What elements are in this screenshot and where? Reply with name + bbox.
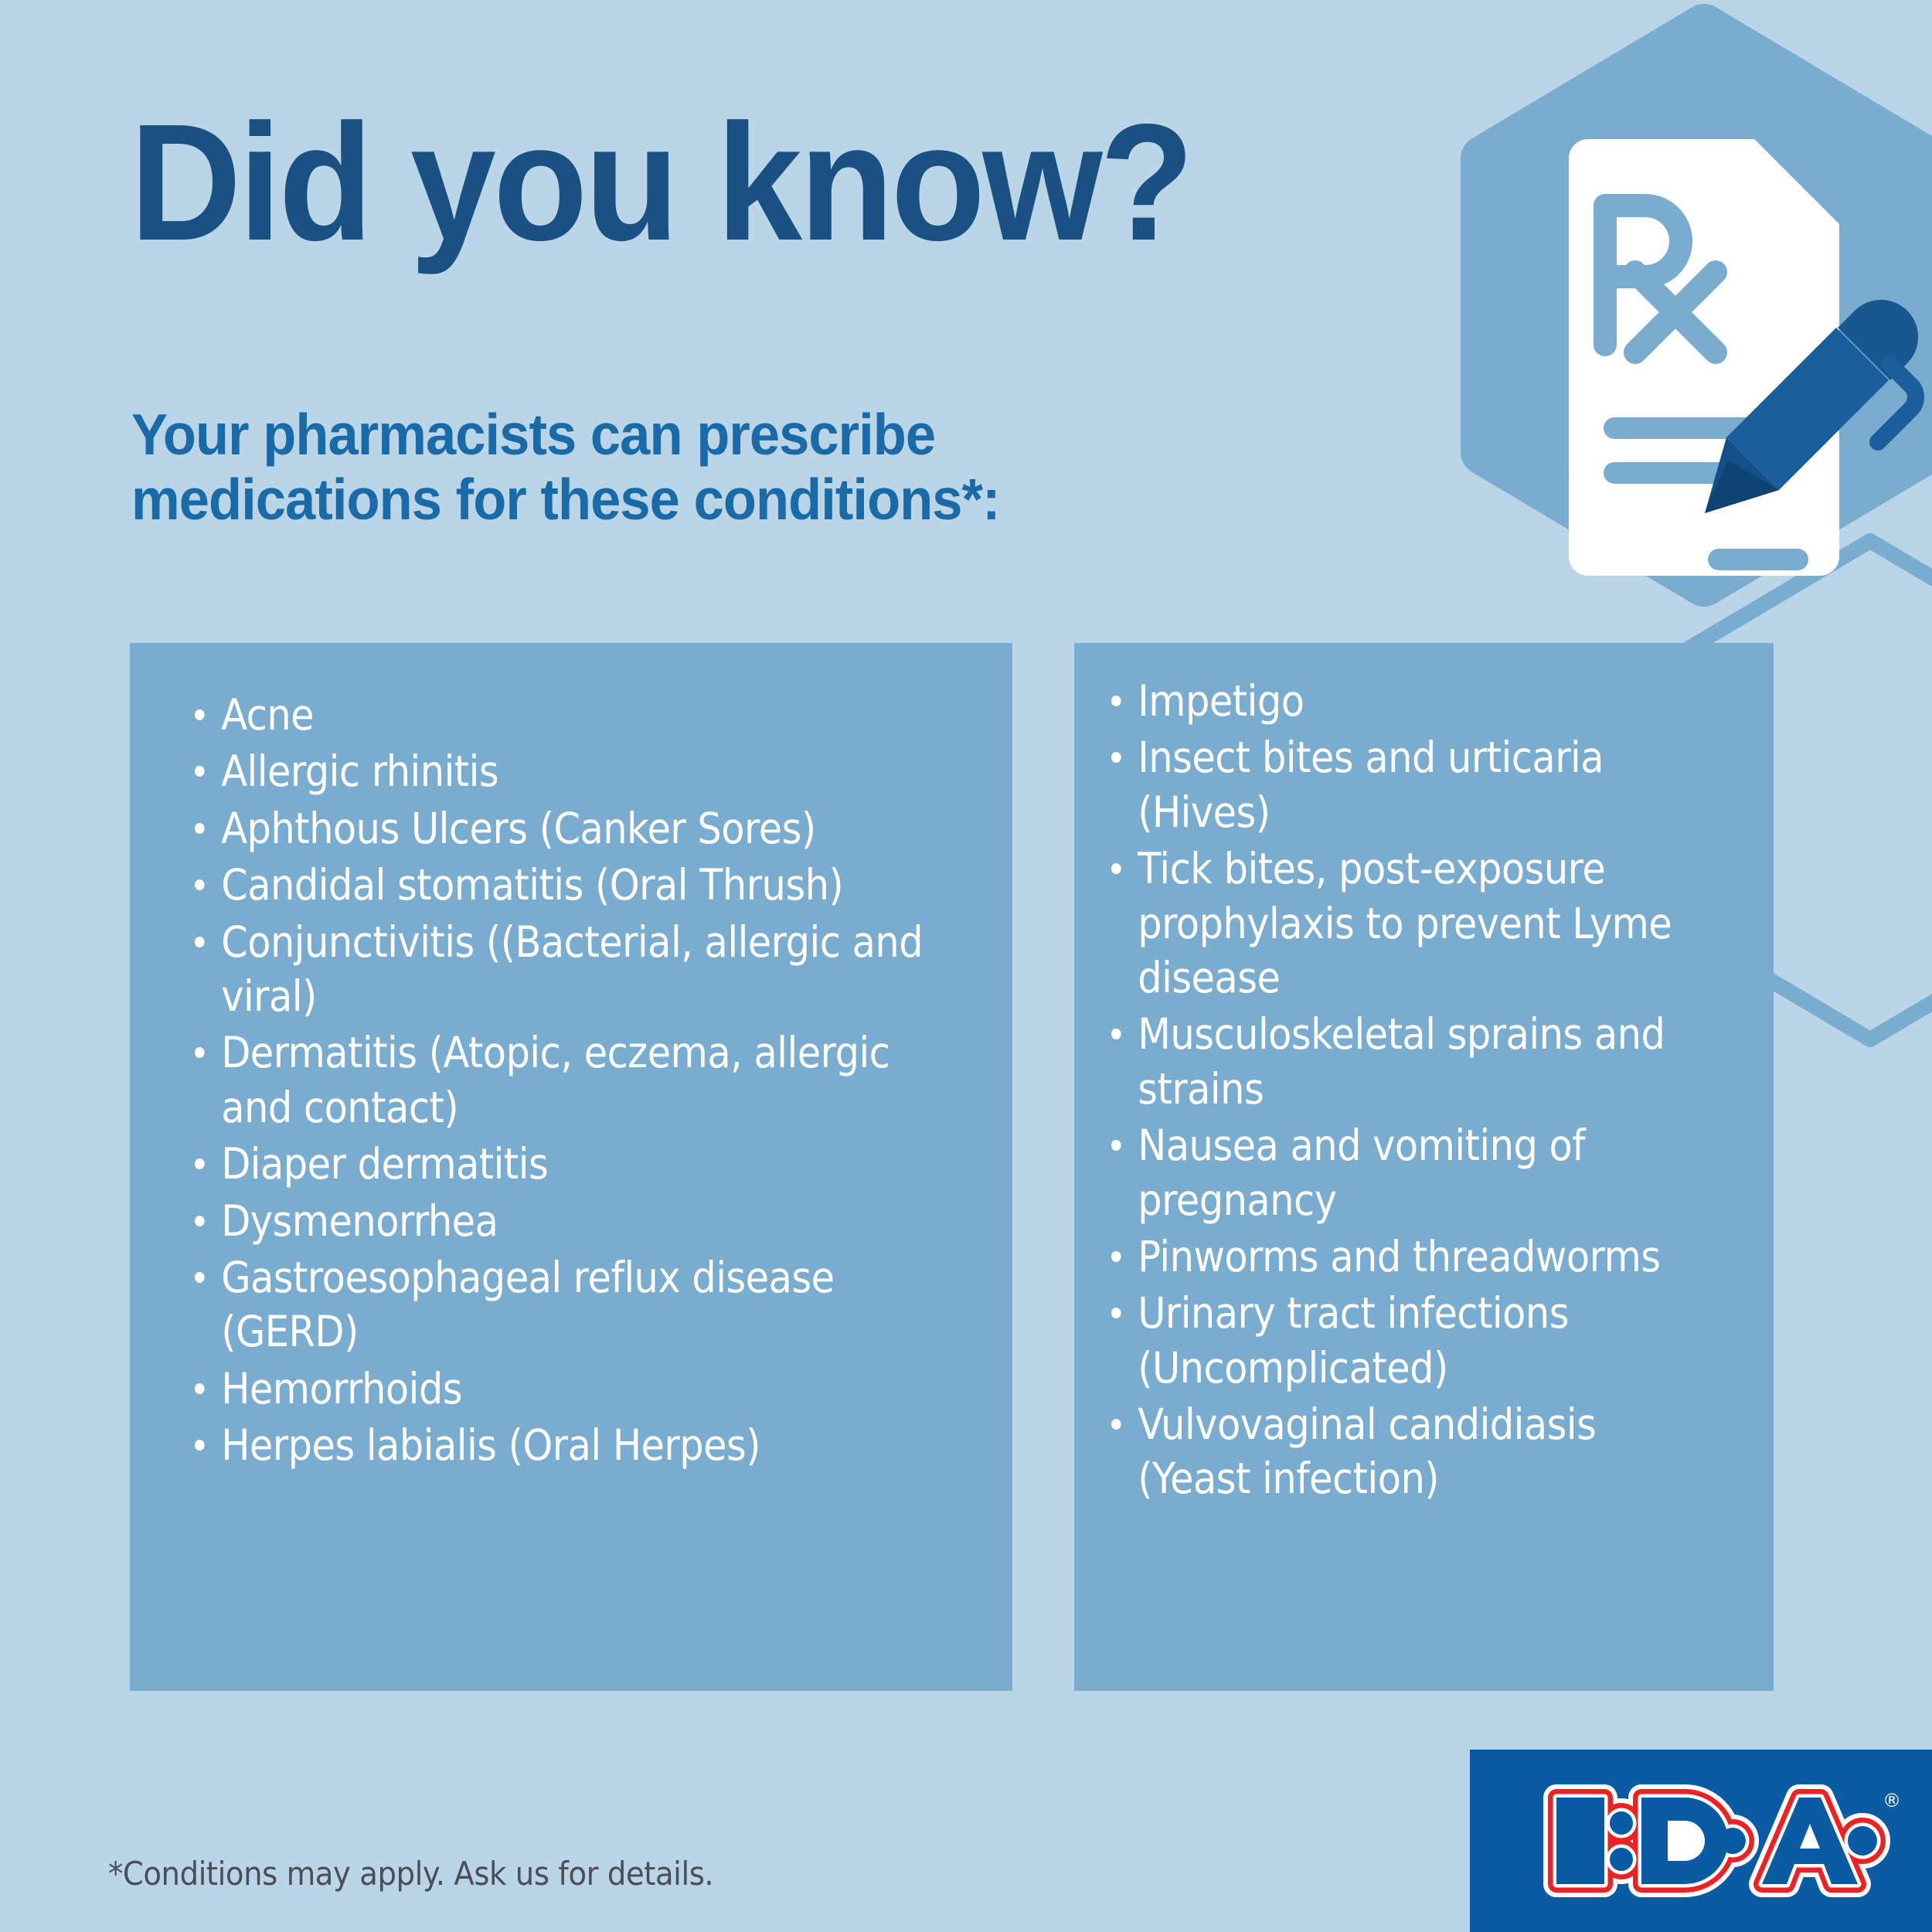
bullet-icon (1111, 696, 1121, 706)
condition-list-item: Pinworms and threadworms (1111, 1230, 1707, 1284)
bullet-icon (195, 1272, 205, 1283)
subheading: Your pharmacists can prescribe medicatio… (131, 402, 1221, 532)
bullet-icon (195, 1047, 205, 1058)
bullet-icon (195, 1383, 205, 1394)
conditions-panel-right: ImpetigoInsect bites and urticaria (Hive… (1074, 643, 1774, 1691)
condition-list-item: Dysmenorrhea (195, 1194, 930, 1248)
bullet-icon (1111, 1251, 1121, 1262)
condition-label: Candidal stomatitis (Oral Thrush) (221, 860, 843, 910)
condition-label: Vulvovaginal candidiasis (Yeast infectio… (1138, 1400, 1596, 1503)
condition-label: Gastroesophageal reflux disease (GERD) (221, 1253, 834, 1356)
condition-list-item: Gastroesophageal reflux disease (GERD) (195, 1250, 930, 1359)
bullet-icon (195, 879, 205, 890)
condition-label: Acne (221, 690, 314, 740)
condition-label: Dysmenorrhea (221, 1196, 498, 1246)
bullet-icon (195, 823, 205, 834)
bullet-icon (1111, 1029, 1121, 1039)
infographic-poster: Did you know? Your pharmacists can presc… (0, 0, 1932, 1932)
condition-label: Pinworms and threadworms (1138, 1232, 1660, 1281)
bullet-icon (1111, 1419, 1121, 1430)
condition-list-item: Conjunctivitis ((Bacterial, allergic and… (195, 915, 930, 1024)
condition-list-item: Insect bites and urticaria (Hives) (1111, 730, 1707, 839)
condition-list-item: Candidal stomatitis (Oral Thrush) (195, 858, 930, 912)
condition-list-item: Acne (195, 688, 930, 742)
condition-list-item: Vulvovaginal candidiasis (Yeast infectio… (1111, 1397, 1707, 1506)
bullet-icon (195, 1158, 205, 1169)
condition-list-item: Urinary tract infections (Uncomplicated) (1111, 1286, 1707, 1395)
registered-mark: ® (1883, 1790, 1901, 1811)
bullet-icon (1111, 752, 1121, 763)
subheading-line-1: Your pharmacists can prescribe (131, 402, 1221, 467)
subheading-line-2: medications for these conditions*: (131, 467, 1221, 532)
condition-list-item: Hemorrhoids (195, 1362, 930, 1416)
condition-label: Herpes labialis (Oral Herpes) (221, 1420, 760, 1470)
condition-list-item: Allergic rhinitis (195, 744, 930, 798)
condition-label: Nausea and vomiting of pregnancy (1138, 1121, 1585, 1224)
condition-label: Dermatitis (Atopic, eczema, allergic and… (221, 1028, 889, 1131)
condition-label: Urinary tract infections (Uncomplicated) (1138, 1288, 1569, 1392)
disclaimer-text: *Conditions may apply. Ask us for detail… (108, 1855, 713, 1893)
rx-document-icon (1453, 15, 1932, 649)
condition-label: Conjunctivitis ((Bacterial, allergic and… (221, 917, 923, 1021)
conditions-list-left: AcneAllergic rhinitisAphthous Ulcers (Ca… (130, 643, 1012, 1472)
bullet-icon (195, 766, 205, 777)
bullet-icon (195, 937, 205, 947)
bullet-icon (1111, 863, 1121, 874)
condition-label: Allergic rhinitis (221, 747, 498, 796)
bullet-icon (1111, 1308, 1121, 1318)
condition-label: Diaper dermatitis (221, 1139, 548, 1189)
bullet-icon (1111, 1140, 1121, 1151)
condition-label: Insect bites and urticaria (Hives) (1138, 733, 1604, 836)
bullet-icon (195, 1440, 205, 1451)
condition-list-item: Diaper dermatitis (195, 1137, 930, 1191)
condition-list-item: Impetigo (1111, 674, 1707, 728)
condition-list-item: Musculoskeletal sprains and strains (1111, 1007, 1707, 1116)
condition-list-item: Tick bites, post-exposure prophylaxis to… (1111, 842, 1707, 1005)
ida-logo-mark: ® (1470, 1750, 1932, 1932)
conditions-list-right: ImpetigoInsect bites and urticaria (Hive… (1074, 643, 1774, 1506)
ida-logo: ® (1470, 1750, 1932, 1932)
page-title: Did you know? (130, 99, 1191, 265)
condition-list-item: Dermatitis (Atopic, eczema, allergic and… (195, 1026, 930, 1134)
condition-label: Tick bites, post-exposure prophylaxis to… (1138, 844, 1672, 1002)
condition-label: Aphthous Ulcers (Canker Sores) (221, 804, 815, 853)
bullet-icon (195, 1216, 205, 1226)
condition-list-item: Aphthous Ulcers (Canker Sores) (195, 801, 930, 855)
ida-logo-letters (1556, 1798, 1877, 1884)
condition-list-item: Nausea and vomiting of pregnancy (1111, 1118, 1707, 1227)
condition-list-item: Herpes labialis (Oral Herpes) (195, 1418, 930, 1472)
conditions-panel-left: AcneAllergic rhinitisAphthous Ulcers (Ca… (130, 643, 1012, 1691)
condition-label: Impetigo (1138, 676, 1304, 726)
condition-label: Hemorrhoids (221, 1364, 462, 1413)
bullet-icon (195, 709, 205, 720)
condition-label: Musculoskeletal sprains and strains (1138, 1009, 1665, 1113)
